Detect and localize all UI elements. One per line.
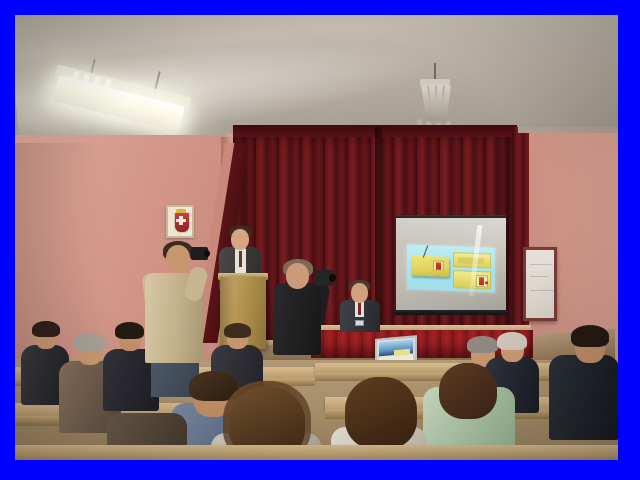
- laptop-screen-highlight: [394, 349, 409, 356]
- screen-bottom-bar: [394, 310, 508, 315]
- seated-official-head: [351, 283, 368, 303]
- coat-of-arms-cross-icon: [179, 216, 183, 225]
- camera-operator-head: [166, 245, 190, 272]
- bench-row-front: [15, 445, 618, 460]
- audience-right-green-hair: [439, 363, 497, 419]
- audience-left-dark-hair: [32, 321, 60, 337]
- speaker-head: [231, 229, 249, 250]
- seated-official-tie: [358, 303, 361, 315]
- camera-operator-camera-lens-icon: [204, 250, 210, 257]
- audience-right-second-hair: [497, 332, 527, 350]
- image-frame: [0, 0, 640, 480]
- pendant-light-fixture: [400, 63, 470, 131]
- audience-left-grey-hair: [73, 333, 106, 351]
- coat-of-arms-frame: [166, 205, 194, 238]
- speaker-tie: [239, 251, 242, 267]
- audience-right-suit-body: [549, 355, 618, 440]
- audience-right-suit-hair: [571, 325, 609, 347]
- screen-glare: [396, 218, 506, 311]
- audience-right-back-hair: [467, 336, 498, 353]
- standing-attendee-head: [286, 263, 309, 289]
- audience-back-row-hair: [224, 323, 251, 338]
- photograph: [15, 15, 618, 460]
- wall-board: [523, 247, 557, 321]
- seated-official-badge: [355, 320, 364, 326]
- coat-of-arms-crown-icon: [176, 209, 186, 213]
- audience-front-right-hair: [345, 377, 417, 449]
- audience-left-third-hair: [115, 322, 144, 339]
- standing-attendee-camera-lens-icon: [329, 274, 336, 282]
- standing-attendee-body: [273, 283, 321, 355]
